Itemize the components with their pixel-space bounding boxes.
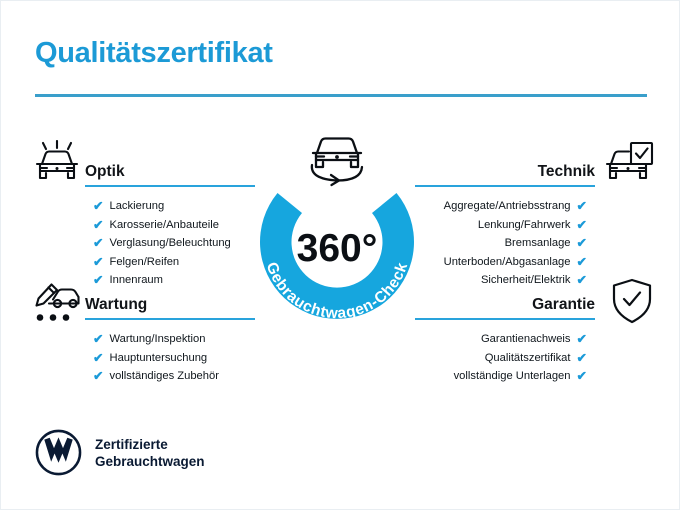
check-icon: ✔ — [93, 370, 103, 383]
section-wartung-title: Wartung — [85, 296, 147, 314]
car-front-rotate-icon — [300, 132, 374, 194]
list-item: ✔ Verglasung/Beleuchtung — [93, 234, 231, 253]
check-icon: ✔ — [577, 370, 587, 383]
list-item-label: Verglasung/Beleuchtung — [109, 234, 230, 253]
list-item-label: Lackierung — [109, 197, 164, 216]
check-icon: ✔ — [93, 237, 103, 250]
section-technik-title: Technik — [538, 163, 595, 181]
footer-line-1: Zertifizierte — [95, 436, 205, 453]
section-wartung-underline — [85, 318, 255, 320]
footer-line-2: Gebrauchtwagen — [95, 453, 205, 470]
list-item-label: Felgen/Reifen — [109, 253, 179, 272]
section-garantie-title: Garantie — [532, 296, 595, 314]
section-wartung-header: Wartung — [85, 286, 255, 316]
list-item-label: Karosserie/Anbauteile — [109, 216, 218, 235]
list-item: vollständige Unterlagen ✔ — [454, 367, 587, 386]
list-item-label: Unterboden/Abgasanlage — [444, 253, 571, 272]
car-front-shine-icon — [31, 140, 83, 191]
section-garantie-underline — [415, 318, 595, 320]
list-item-label: Hauptuntersuchung — [109, 349, 207, 368]
check-icon: ✔ — [93, 333, 103, 346]
list-item: ✔ vollständiges Zubehör — [93, 367, 219, 386]
badge-center-label: 360° — [297, 227, 378, 270]
list-item-label: Qualitätszertifikat — [485, 349, 571, 368]
section-optik-header: Optik — [85, 153, 255, 183]
list-item: Aggregate/Antriebsstrang ✔ — [444, 197, 587, 216]
check-icon: ✔ — [93, 274, 103, 287]
section-garantie-list: Garantienachweis ✔ Qualitätszertifikat ✔… — [454, 330, 587, 386]
section-technik-underline — [415, 185, 595, 187]
page-title: Qualitätszertifikat — [35, 37, 273, 70]
check-icon: ✔ — [577, 219, 587, 232]
list-item-label: Garantienachweis — [481, 330, 571, 349]
section-technik-header: Technik — [425, 153, 595, 183]
title-divider — [35, 94, 647, 97]
list-item: ✔ Karosserie/Anbauteile — [93, 216, 231, 235]
pen-car-dots-icon — [31, 281, 83, 330]
list-item: Qualitätszertifikat ✔ — [454, 349, 587, 368]
section-technik-list: Aggregate/Antriebsstrang ✔ Lenkung/Fahrw… — [444, 197, 587, 290]
section-optik: Optik ✔ Lackierung ✔ Karosserie/Anbautei… — [85, 153, 255, 183]
list-item-label: vollständiges Zubehör — [109, 367, 218, 386]
check-icon: ✔ — [93, 256, 103, 269]
check-icon: ✔ — [577, 237, 587, 250]
footer-text: Zertifizierte Gebrauchtwagen — [95, 436, 205, 470]
section-garantie: Garantie Garantienachweis ✔ Qualitätszer… — [425, 286, 595, 316]
car-front-checkbox-icon — [605, 140, 655, 191]
check-icon: ✔ — [577, 352, 587, 365]
check-icon: ✔ — [93, 219, 103, 232]
list-item: Garantienachweis ✔ — [454, 330, 587, 349]
section-optik-underline — [85, 185, 255, 187]
list-item-label: Wartung/Inspektion — [109, 330, 205, 349]
check-icon: ✔ — [577, 200, 587, 213]
section-wartung-list: ✔ Wartung/Inspektion ✔ Hauptuntersuchung… — [93, 330, 219, 386]
list-item: ✔ Hauptuntersuchung — [93, 349, 219, 368]
check-icon: ✔ — [577, 274, 587, 287]
section-technik: Technik Aggregate/Antriebsstrang ✔ Lenku… — [425, 153, 595, 183]
list-item: Lenkung/Fahrwerk ✔ — [444, 216, 587, 235]
list-item-label: vollständige Unterlagen — [454, 367, 571, 386]
section-garantie-header: Garantie — [425, 286, 595, 316]
section-optik-title: Optik — [85, 163, 125, 181]
list-item: ✔ Wartung/Inspektion — [93, 330, 219, 349]
quality-certificate-page: Qualitätszertifikat Optik ✔ Lackierung ✔… — [0, 0, 680, 510]
list-item-label: Bremsanlage — [505, 234, 571, 253]
vw-logo — [35, 429, 82, 476]
list-item: Unterboden/Abgasanlage ✔ — [444, 253, 587, 272]
check-icon: ✔ — [93, 352, 103, 365]
list-item-label: Aggregate/Antriebsstrang — [444, 197, 571, 216]
check-icon: ✔ — [577, 333, 587, 346]
list-item: ✔ Felgen/Reifen — [93, 253, 231, 272]
check-icon: ✔ — [93, 200, 103, 213]
shield-check-icon — [610, 277, 654, 330]
list-item: ✔ Lackierung — [93, 197, 231, 216]
check-icon: ✔ — [577, 256, 587, 269]
list-item-label: Lenkung/Fahrwerk — [478, 216, 571, 235]
list-item: Bremsanlage ✔ — [444, 234, 587, 253]
footer-logo-block: Zertifizierte Gebrauchtwagen — [35, 429, 205, 476]
section-wartung: Wartung ✔ Wartung/Inspektion ✔ Hauptunte… — [85, 286, 255, 316]
section-optik-list: ✔ Lackierung ✔ Karosserie/Anbauteile ✔ V… — [93, 197, 231, 290]
